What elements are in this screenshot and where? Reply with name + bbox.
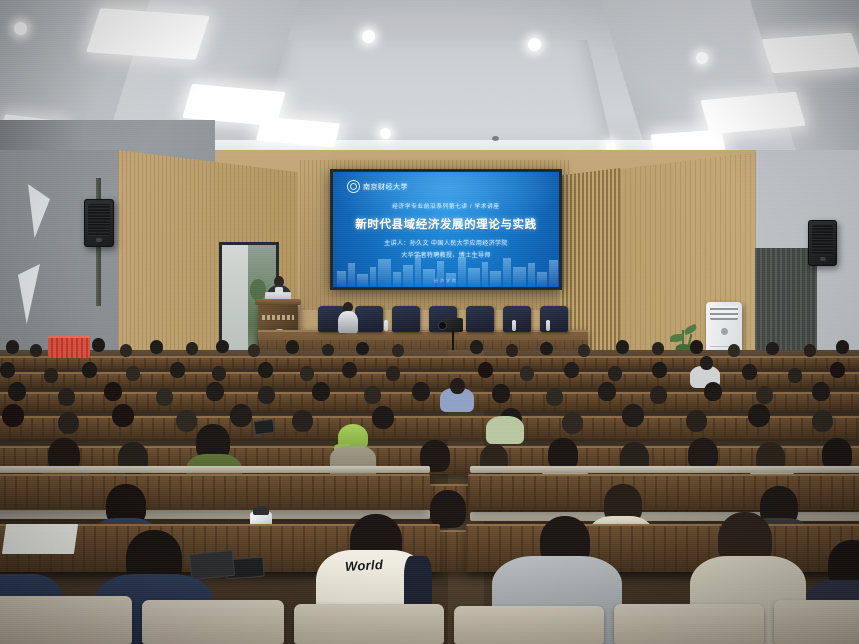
speaker-grille [88,204,110,236]
ceiling-downlight [380,128,391,139]
ceiling-panel-light [86,8,210,60]
university-seal-icon [347,180,360,193]
projection-screen[interactable]: 南京财经大学 经济学专业前沿系列第七讲 / 学术讲座 新时代县域经济发展的理论与… [330,169,562,290]
wall-speaker-right [808,220,837,266]
slide-university-name: 南京财经大学 [363,182,408,192]
speaker-tweeter [820,257,826,261]
water-bottle [512,320,516,331]
seat-back[interactable] [614,604,764,644]
slide-university-logo: 南京财经大学 [347,180,408,193]
desk-edge [470,512,859,521]
seat-back[interactable] [0,596,132,644]
speaker-grille [812,225,833,255]
outside-foliage [250,279,266,301]
ceiling-downlight [696,52,708,64]
desk-row [468,474,859,510]
red-storage-basket [48,336,90,358]
tablet-on-desk[interactable] [189,550,235,580]
ac-vent-grille [710,306,738,320]
thermos-lid [253,506,269,515]
desk-edge [0,466,430,473]
jacket-brand-text: World [345,557,384,574]
wall-speaker-left [84,199,114,247]
seat-back[interactable] [142,600,284,644]
water-bottle [546,320,550,331]
desk-edge [470,466,859,473]
ceiling-downlight [362,30,375,43]
slide-main-title: 新时代县域经济发展的理论与实践 [333,216,559,232]
head-table-chair[interactable] [392,306,420,332]
desk-row [0,474,430,510]
slide-speaker-line-1: 主讲人：孙久文 中国人民大学应用经济学院 [333,238,559,247]
slide-footer-text: 经济学院 [333,278,559,284]
seat-back[interactable] [294,604,444,644]
water-bottle [384,320,388,331]
seat-back[interactable] [774,600,859,644]
presentation-slide: 南京财经大学 经济学专业前沿系列第七讲 / 学术讲座 新时代县域经济发展的理论与… [333,172,559,287]
head-table-chair[interactable] [466,306,494,332]
lecture-hall-photo: 南京财经大学 经济学专业前沿系列第七讲 / 学术讲座 新时代县域经济发展的理论与… [0,0,859,644]
lectern-nameplate [262,315,294,320]
slide-series-line: 经济学专业前沿系列第七讲 / 学术讲座 [333,202,559,210]
seat-back[interactable] [454,606,604,644]
head-table-chair[interactable] [503,306,531,332]
ceiling-vent [492,136,499,141]
speaker-tweeter [96,238,102,242]
ceiling-downlight [14,22,27,35]
head-table-chair[interactable] [540,306,568,332]
lectern-top [255,299,301,305]
smartphone-held-up[interactable] [253,419,275,436]
notebook-paper [2,524,78,554]
seated-moderator [336,302,360,332]
ceiling-panel-light [762,33,859,73]
ac-logo-badge [721,328,728,335]
camera-lens-icon [438,321,447,330]
moderator-torso [338,311,358,333]
ceiling-downlight [528,38,541,51]
